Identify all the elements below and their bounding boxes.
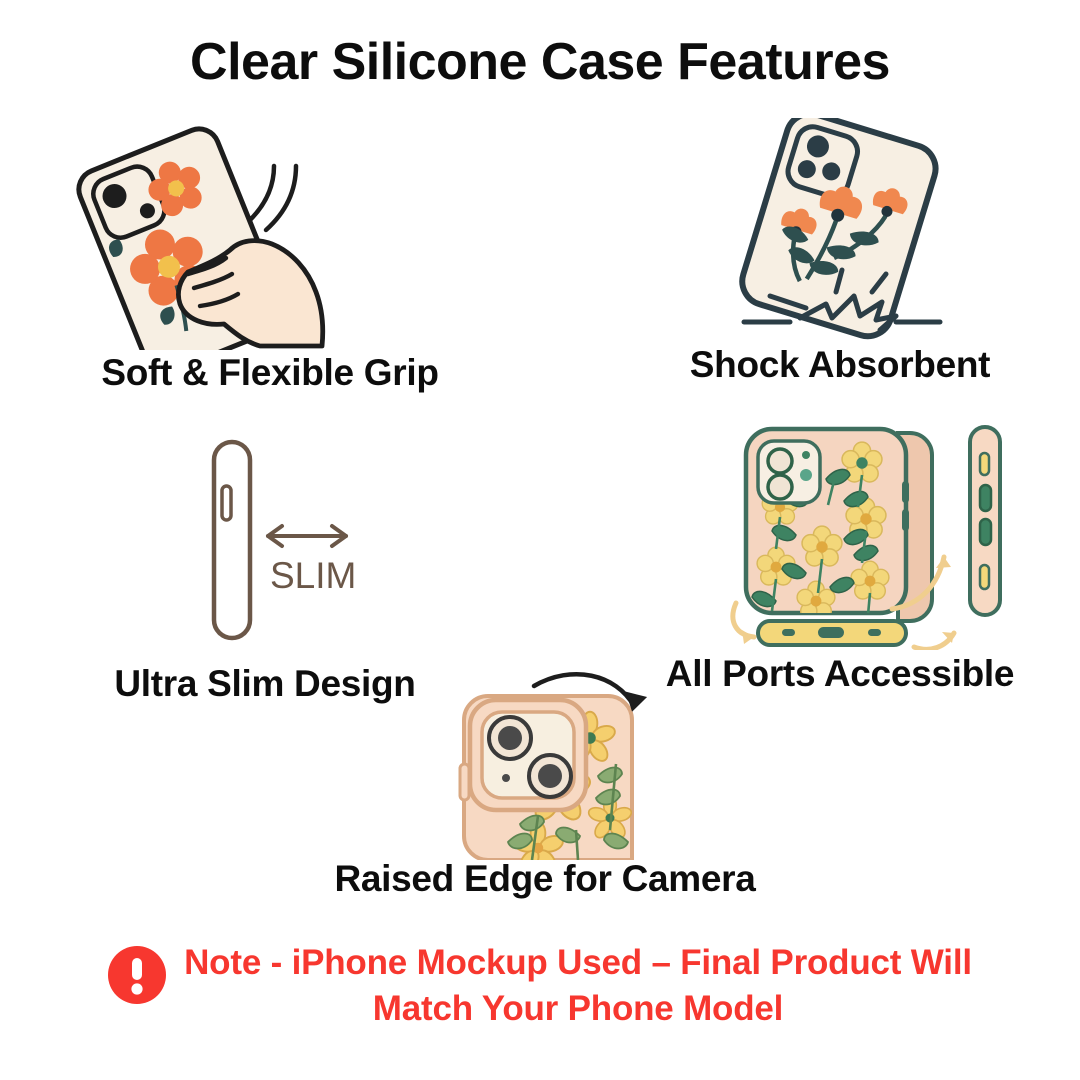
feature-label-grip: Soft & Flexible Grip	[60, 352, 480, 394]
slim-caption: SLIM	[270, 555, 356, 596]
note-text: Note - iPhone Mockup Used – Final Produc…	[184, 940, 972, 1032]
exclamation-circle-icon	[108, 946, 166, 1009]
feature-raised-edge-camera: Raised Edge for Camera	[310, 660, 780, 930]
note-line-1: Note - iPhone Mockup Used – Final Produc…	[184, 940, 972, 986]
page-title: Clear Silicone Case Features	[0, 32, 1080, 92]
infographic-page: Clear Silicone Case Features	[0, 0, 1080, 1080]
feature-shock-absorbent: Shock Absorbent	[640, 118, 1040, 408]
hand-holding-flexing-phone-icon	[60, 120, 480, 350]
feature-label-camera: Raised Edge for Camera	[310, 858, 780, 900]
feature-label-shock: Shock Absorbent	[640, 344, 1040, 386]
feature-soft-flexible-grip: Soft & Flexible Grip	[60, 120, 480, 410]
phone-raised-camera-bump-icon	[310, 660, 780, 860]
phone-drop-impact-icon	[640, 118, 1040, 343]
phone-side-profile-icon: SLIM	[70, 428, 460, 658]
phone-ports-cutouts-icon	[630, 415, 1050, 650]
note-line-2: Match Your Phone Model	[184, 986, 972, 1032]
note-banner: Note - iPhone Mockup Used – Final Produc…	[0, 940, 1080, 1032]
